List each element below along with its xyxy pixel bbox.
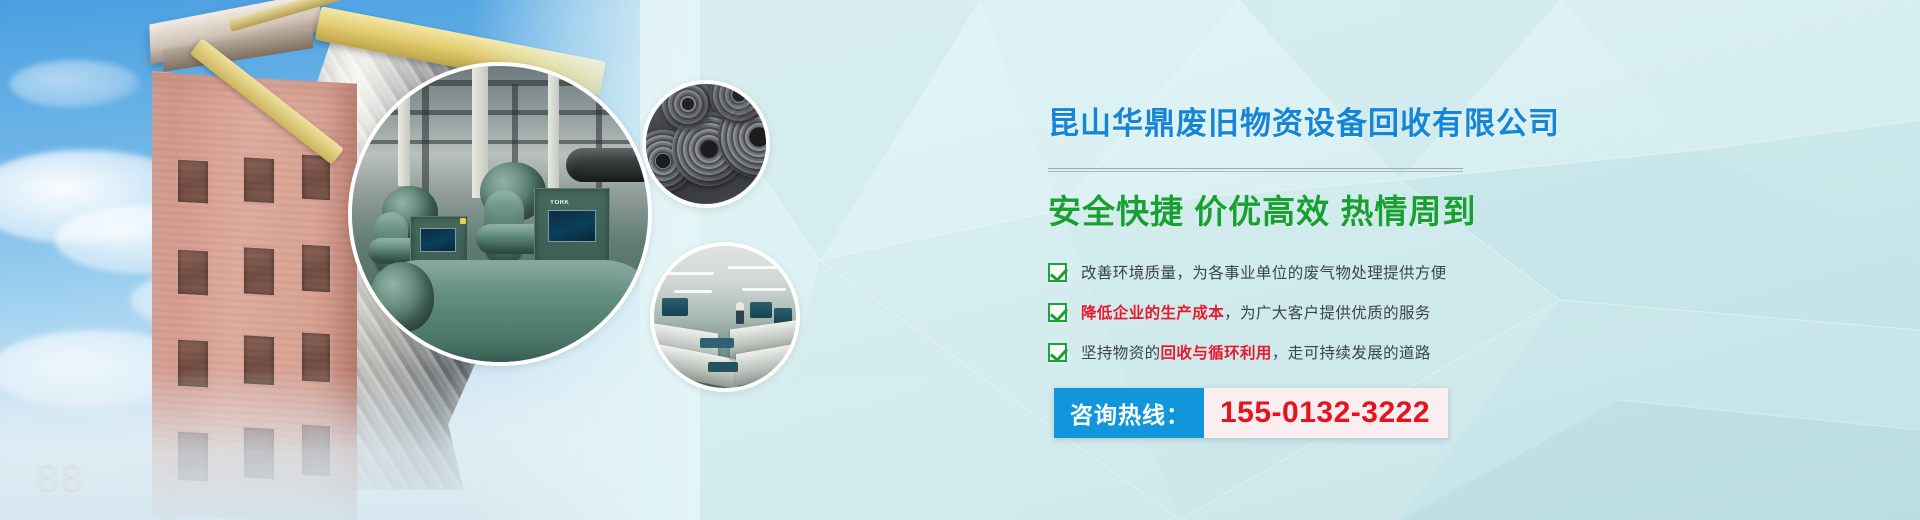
hotline-number[interactable]: 155-0132-3222 xyxy=(1204,388,1448,438)
steel-coil-rolls-photo xyxy=(646,84,766,204)
bullet-prefix: 改善环境质量，为各事业单位的废气物处理提供方便 xyxy=(1081,265,1447,282)
coil-scene xyxy=(646,84,766,204)
bullet-highlight: 回收与循环利用 xyxy=(1161,345,1272,362)
check-icon xyxy=(1048,263,1067,282)
bullet-prefix: 坚持物资的 xyxy=(1081,345,1161,362)
company-title: 昆山华鼎废旧物资设备回收有限公司 xyxy=(1048,98,1560,143)
check-icon xyxy=(1048,343,1067,362)
bullet-suffix: ，为广大客户提供优质的服务 xyxy=(1224,305,1431,322)
industrial-chiller-machinery-photo: YORK JOHNSON CONTROLS xyxy=(352,66,648,362)
list-item: 降低企业的生产成本，为广大客户提供优质的服务 xyxy=(1048,292,1648,332)
dust-haze xyxy=(0,370,640,520)
cloud xyxy=(10,60,140,108)
list-item: 坚持物资的回收与循环利用，走可持续发展的道路 xyxy=(1048,332,1648,372)
promotional-banner: 88 xyxy=(0,0,1920,520)
workshop-scene xyxy=(654,246,796,388)
hotline-label: 咨询热线： xyxy=(1054,388,1204,438)
text-content-block: 昆山华鼎废旧物资设备回收有限公司 安全快捷 价优高效 热情周到 改善环境质量，为… xyxy=(1048,0,1668,520)
slogan-text: 安全快捷 价优高效 热情周到 xyxy=(1048,185,1476,233)
bullet-text: 改善环境质量，为各事业单位的废气物处理提供方便 xyxy=(1081,261,1447,283)
bullet-text: 降低企业的生产成本，为广大客户提供优质的服务 xyxy=(1081,301,1431,323)
bullet-suffix: ，走可持续发展的道路 xyxy=(1272,345,1431,362)
list-item: 改善环境质量，为各事业单位的废气物处理提供方便 xyxy=(1048,252,1648,292)
check-icon xyxy=(1048,303,1067,322)
feature-bullet-list: 改善环境质量，为各事业单位的废气物处理提供方便 降低企业的生产成本，为广大客户提… xyxy=(1048,252,1648,372)
machinery-scene: YORK JOHNSON CONTROLS xyxy=(352,66,648,362)
bullet-text: 坚持物资的回收与循环利用，走可持续发展的道路 xyxy=(1081,341,1431,363)
hotline-bar[interactable]: 咨询热线： 155-0132-3222 xyxy=(1054,388,1448,438)
watermark-text: 88 xyxy=(36,455,85,500)
bullet-highlight: 降低企业的生产成本 xyxy=(1081,305,1224,322)
factory-workshop-production-line-photo xyxy=(654,246,796,388)
title-divider xyxy=(1048,168,1463,172)
